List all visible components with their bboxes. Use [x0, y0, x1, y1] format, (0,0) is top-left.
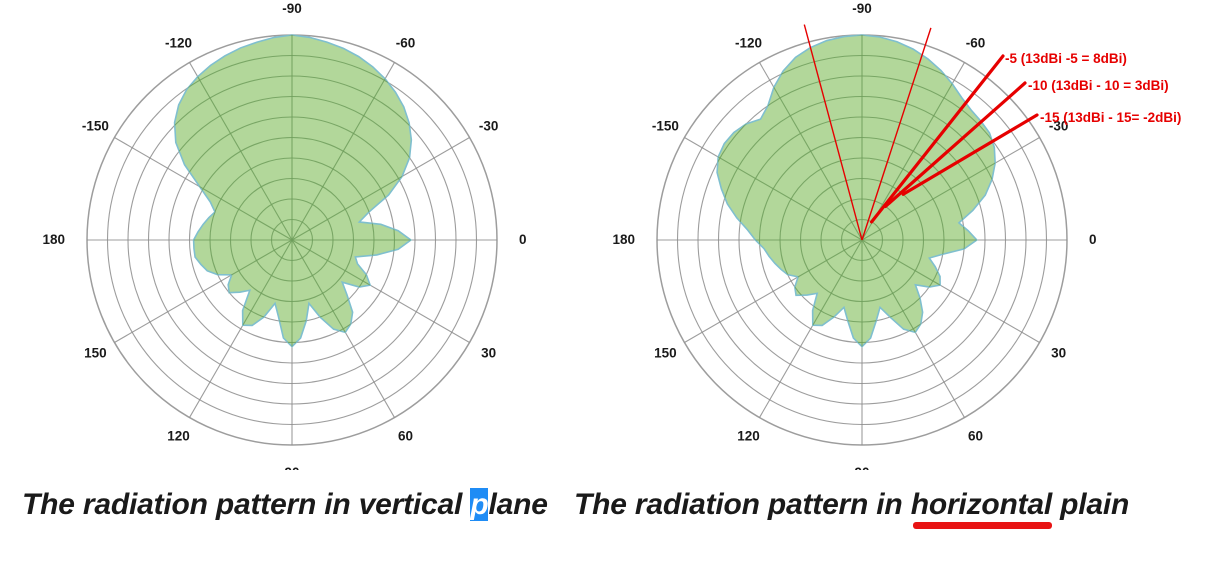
polar-plot-svg-horizontal: 0-30-60-90-120-150180150120906030	[603, 0, 1206, 470]
angle-tick-label-minus120: -120	[165, 35, 192, 50]
angle-tick-label-120: 120	[167, 429, 190, 444]
angle-tick-label-minus120: -120	[735, 35, 762, 50]
caption-left-selected-char[interactable]: p	[470, 488, 488, 521]
annotation-minus15: -15 (13dBi - 15= -2dBi)	[1040, 110, 1181, 125]
angle-tick-label-150: 150	[84, 346, 107, 361]
caption-horizontal-plane: The radiation pattern in horizontal plai…	[574, 488, 1129, 522]
caption-right-text-before: The radiation pattern in	[574, 488, 911, 521]
angle-tick-label-minus90: -90	[852, 1, 872, 16]
angle-tick-label-30: 30	[481, 346, 496, 361]
polar-chart-horizontal-plane: 0-30-60-90-120-150180150120906030 -5 (13…	[603, 0, 1206, 470]
angle-tick-label-60: 60	[968, 429, 983, 444]
red-underline-mark	[913, 522, 1052, 529]
angle-tick-label-minus150: -150	[652, 119, 679, 134]
angle-tick-label-150: 150	[654, 346, 677, 361]
caption-right-text-after: plain	[1052, 488, 1129, 521]
angle-tick-label-minus150: -150	[82, 119, 109, 134]
angle-tick-label-minus90: -90	[282, 1, 302, 16]
angle-tick-label-60: 60	[398, 429, 413, 444]
angle-tick-label-30: 30	[1051, 346, 1066, 361]
caption-row: The radiation pattern in vertical plane …	[0, 470, 1206, 562]
caption-vertical-plane: The radiation pattern in vertical plane	[22, 488, 548, 522]
angle-tick-label-minus60: -60	[396, 35, 416, 50]
annotation-minus10: -10 (13dBi - 10 = 3dBi)	[1028, 78, 1169, 93]
angle-tick-label-minus30: -30	[479, 119, 499, 134]
polar-chart-vertical-plane: 0-30-60-90-120-150180150120906030	[0, 0, 603, 470]
caption-left-text-after: lane	[488, 488, 547, 521]
angle-tick-label-0: 0	[1089, 232, 1097, 247]
angle-tick-label-180: 180	[612, 232, 635, 247]
annotation-minus5: -5 (13dBi -5 = 8dBi)	[1005, 51, 1127, 66]
caption-left-text-before: The radiation pattern in vertical	[22, 488, 470, 521]
caption-right-underlined-word: horizontal	[911, 488, 1052, 521]
angle-tick-label-0: 0	[519, 232, 527, 247]
angle-tick-label-180: 180	[42, 232, 65, 247]
angle-tick-label-120: 120	[737, 429, 760, 444]
polar-plot-svg-vertical: 0-30-60-90-120-150180150120906030	[0, 0, 603, 470]
angle-tick-label-minus60: -60	[966, 35, 986, 50]
screenshot-root: 0-30-60-90-120-150180150120906030 0-30-6…	[0, 0, 1206, 562]
